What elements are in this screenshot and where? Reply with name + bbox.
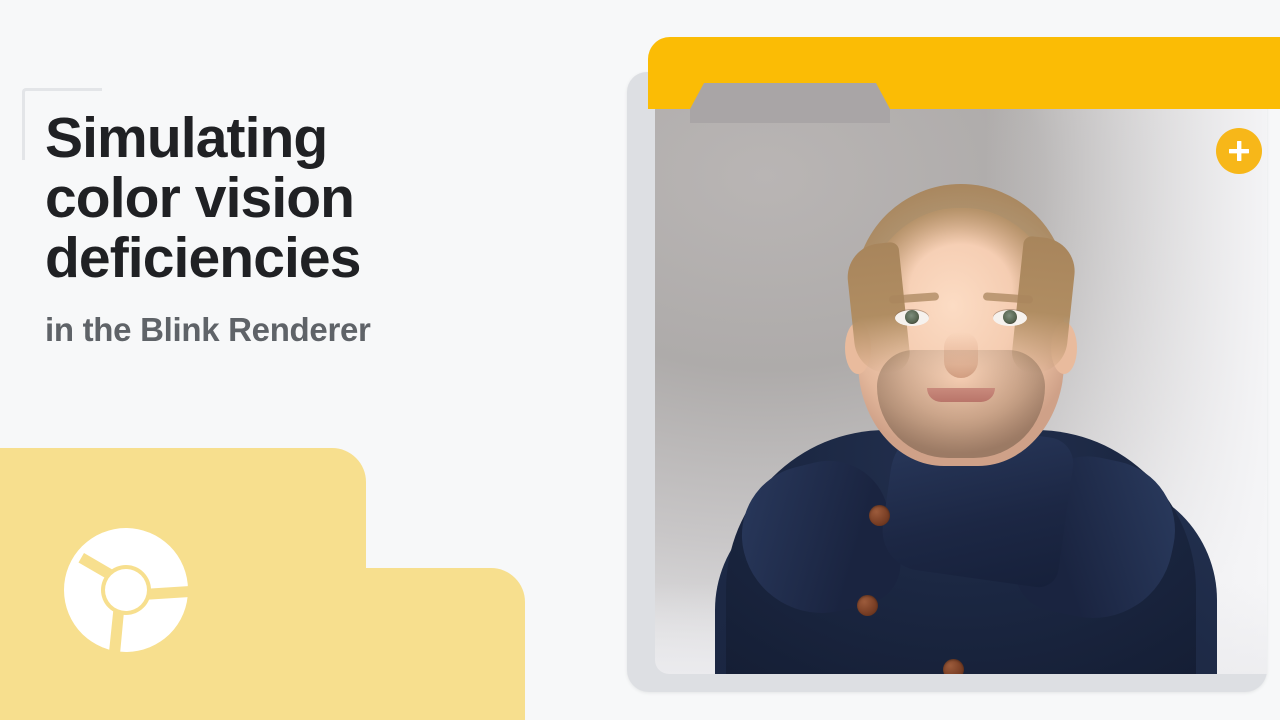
mouth [927,388,995,402]
presenter-figure [655,108,1267,674]
iris-left [905,310,919,324]
plus-icon[interactable] [1216,128,1262,174]
chrome-logo-icon [62,526,190,654]
title-line-2: color vision [45,168,585,228]
title-line-1: Simulating [45,108,585,168]
video-card[interactable] [627,72,1267,692]
hoodie-button [943,659,964,674]
slide-canvas: Simulating color vision deficiencies in … [0,0,1280,720]
left-panel: Simulating color vision deficiencies in … [0,0,600,720]
page-title: Simulating color vision deficiencies [45,108,585,288]
hoodie-button [857,595,878,616]
title-line-3: deficiencies [45,228,585,288]
video-viewport[interactable] [655,108,1267,674]
hoodie-button [869,505,890,526]
page-subtitle: in the Blink Renderer [45,310,585,350]
folder-tab-notch [690,83,890,123]
iris-right [1003,310,1017,324]
video-scene [655,108,1267,674]
title-block: Simulating color vision deficiencies in … [45,108,585,350]
